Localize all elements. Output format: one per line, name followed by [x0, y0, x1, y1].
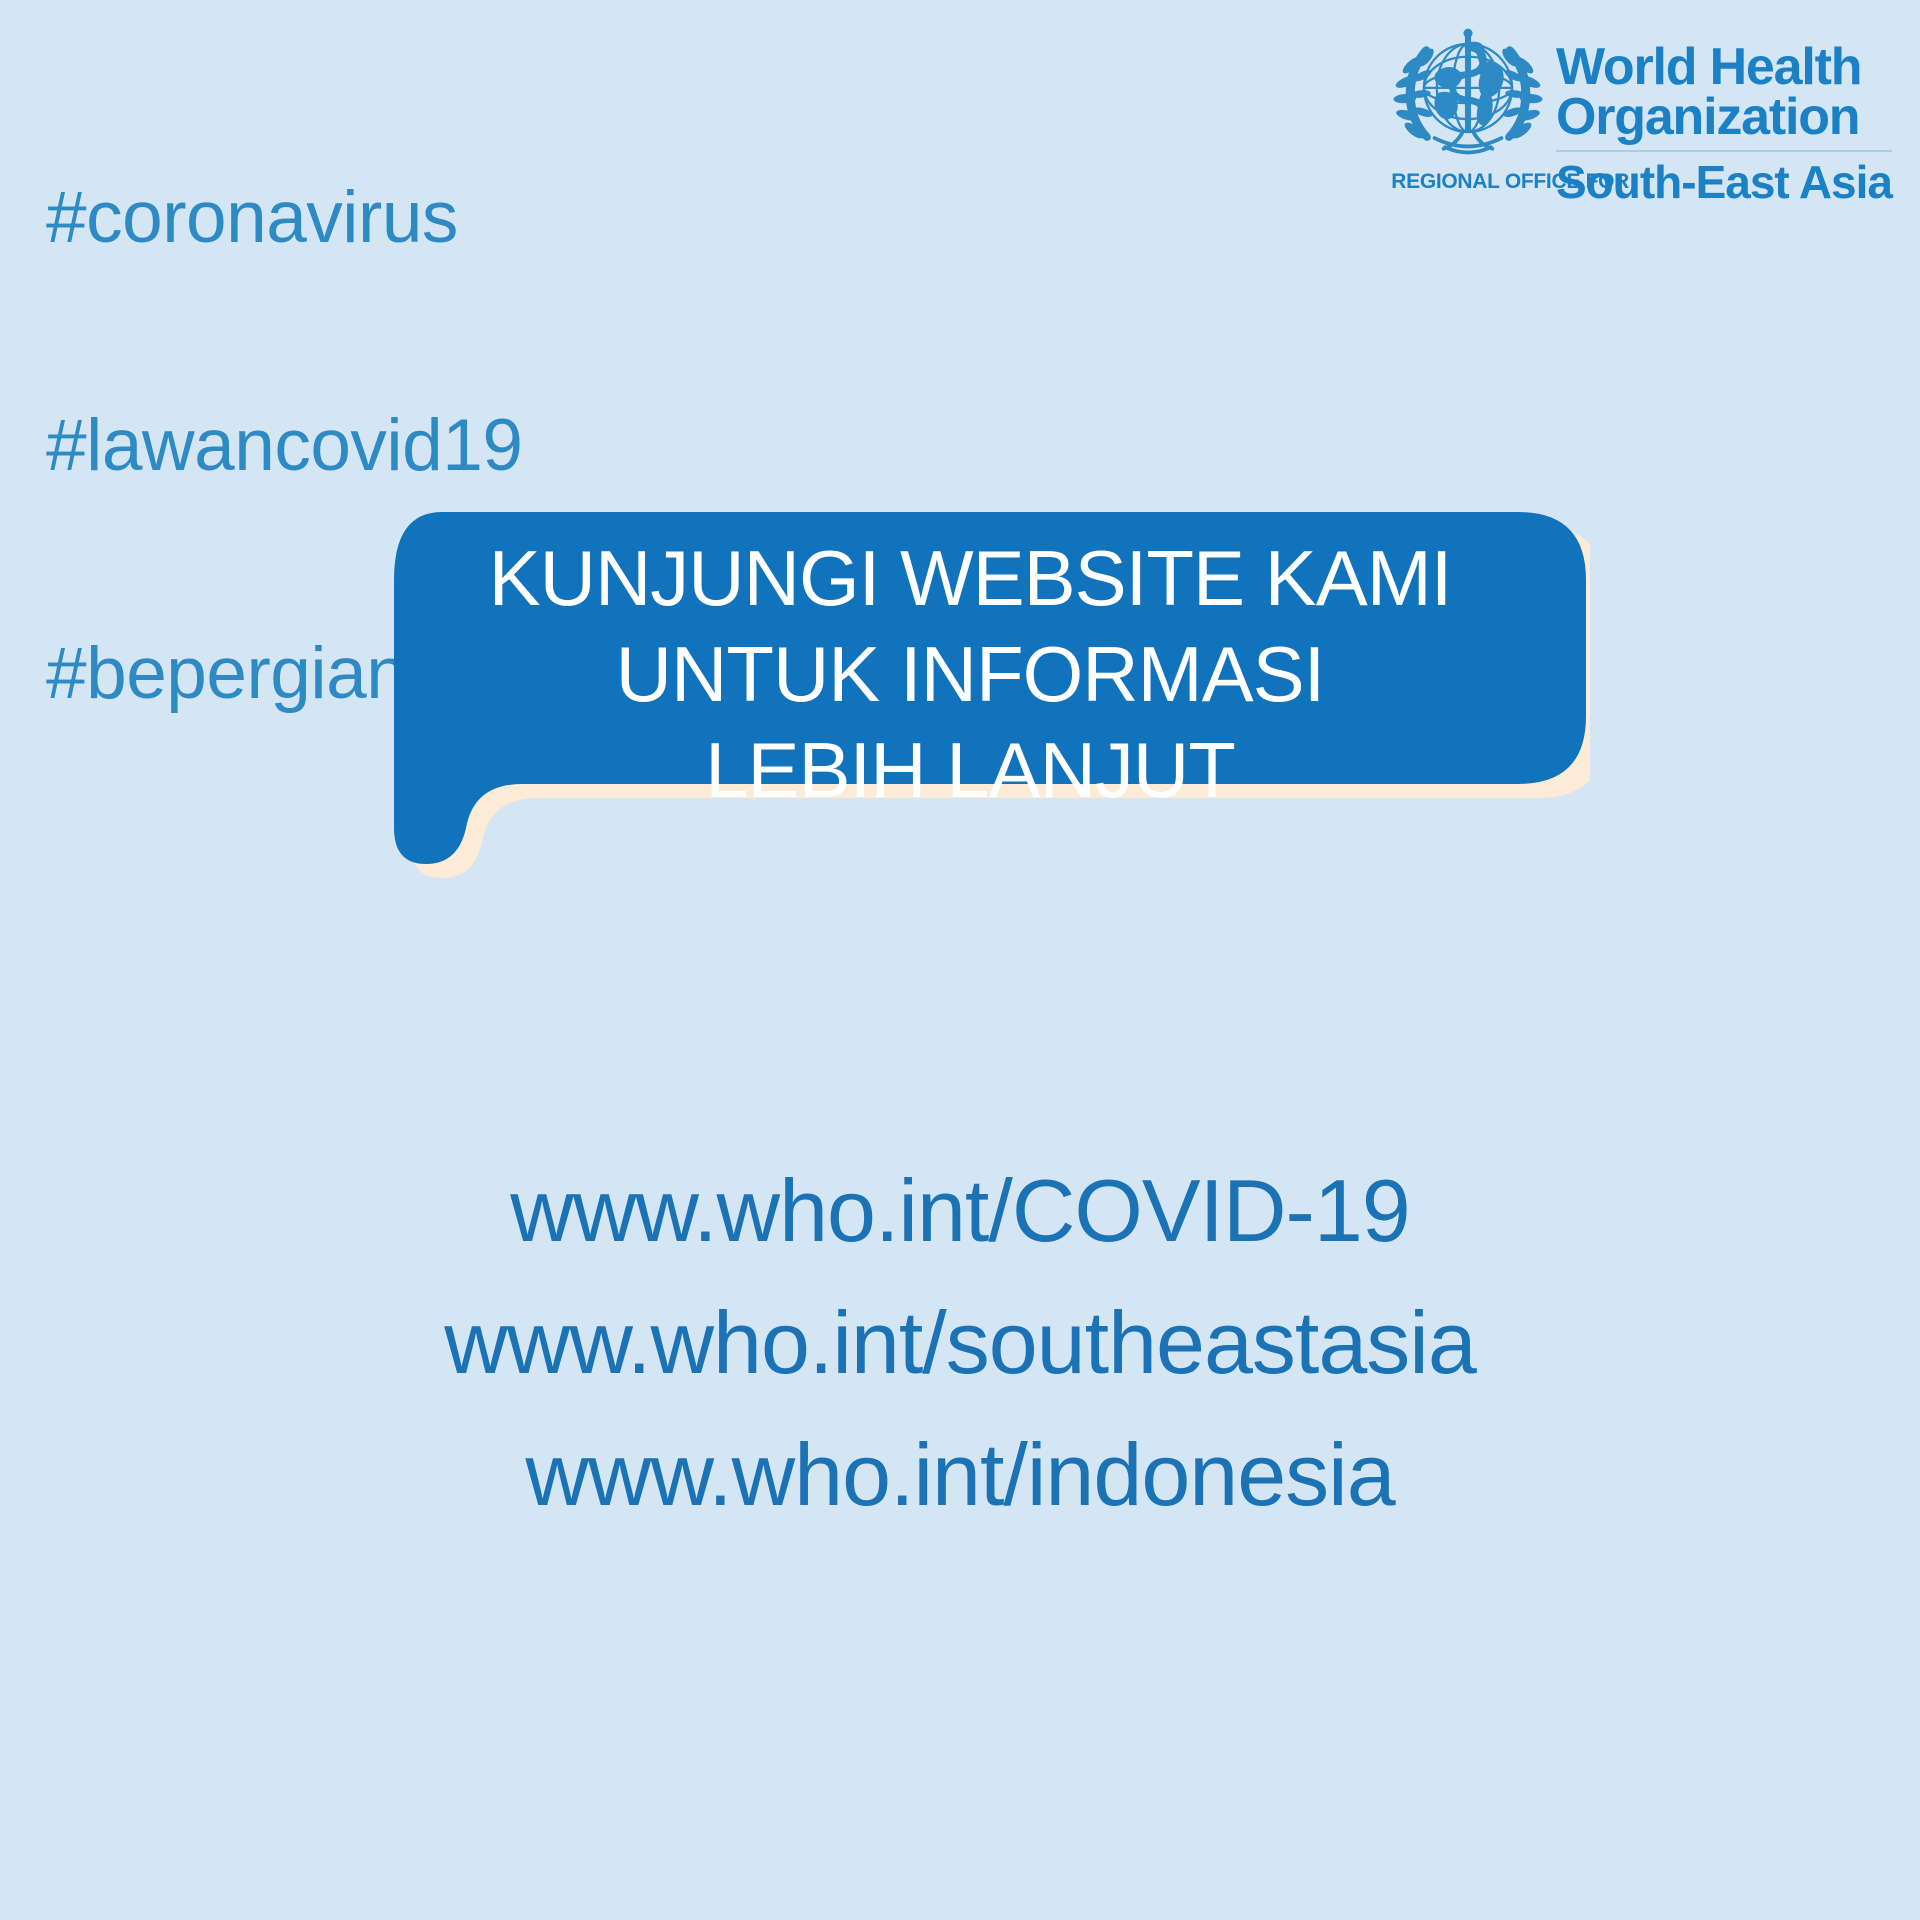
- website-url-list: www.who.int/COVID-19 www.who.int/southea…: [0, 1145, 1920, 1541]
- website-url-southeastasia[interactable]: www.who.int/southeastasia: [0, 1277, 1920, 1409]
- who-regional-office-label: REGIONAL OFFICE FOR: [1391, 170, 1629, 194]
- website-url-indonesia[interactable]: www.who.int/indonesia: [0, 1409, 1920, 1541]
- who-divider: [1556, 150, 1892, 152]
- who-emblem-icon: [1392, 18, 1544, 170]
- bubble-text-line-3: LEBIH LANJUT: [430, 722, 1510, 818]
- bubble-text-line-2: UNTUK INFORMASI: [430, 626, 1510, 722]
- who-logo: World Health Organization South-East Asi…: [1392, 18, 1892, 205]
- website-url-covid19[interactable]: www.who.int/COVID-19: [0, 1145, 1920, 1277]
- bubble-text-line-1: KUNJUNGI WEBSITE KAMI: [430, 530, 1510, 626]
- speech-bubble: KUNJUNGI WEBSITE KAMI UNTUK INFORMASI LE…: [330, 470, 1590, 900]
- bubble-text: KUNJUNGI WEBSITE KAMI UNTUK INFORMASI LE…: [430, 530, 1510, 818]
- hashtag-line-1: #coronavirus: [46, 180, 522, 256]
- who-wordmark-line-2: Organization: [1556, 92, 1892, 142]
- who-wordmark-line-1: World Health: [1556, 42, 1892, 92]
